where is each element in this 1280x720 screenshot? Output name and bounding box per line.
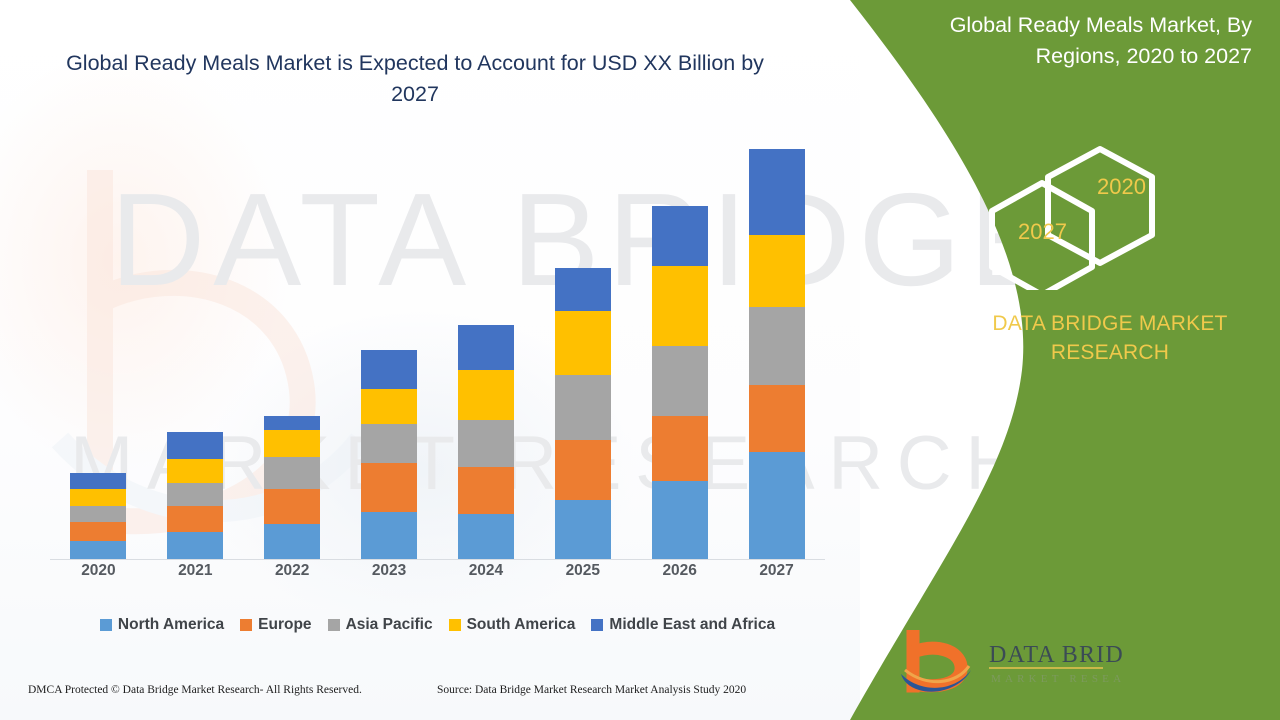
bar-segment — [361, 463, 417, 512]
bar-segment — [264, 524, 320, 559]
legend-swatch-icon — [240, 619, 252, 631]
bar-segment — [167, 483, 223, 506]
chart-column — [244, 150, 341, 559]
x-axis-tick: 2023 — [341, 562, 438, 580]
x-axis-line — [50, 559, 825, 560]
stacked-bar — [361, 350, 417, 559]
x-axis-labels: 20202021202220232024202520262027 — [50, 562, 825, 580]
bar-segment — [458, 420, 514, 467]
stacked-bar — [458, 325, 514, 559]
hexagon-outline-icon — [980, 145, 1190, 290]
bar-segment — [458, 514, 514, 559]
bar-segment — [70, 541, 126, 559]
bar-segment — [264, 489, 320, 524]
bar-segment — [749, 235, 805, 307]
bar-segment — [264, 430, 320, 457]
x-axis-tick: 2021 — [147, 562, 244, 580]
bar-segment — [652, 346, 708, 416]
bar-segment — [555, 500, 611, 559]
bar-segment — [555, 311, 611, 375]
chart-column — [534, 150, 631, 559]
chart-column — [50, 150, 147, 559]
legend-swatch-icon — [591, 619, 603, 631]
legend-item[interactable]: Middle East and Africa — [591, 616, 775, 634]
svg-text:MARKET RESEARCH: MARKET RESEARCH — [991, 673, 1123, 685]
brand-line-1: DATA BRIDGE MARKET — [965, 310, 1255, 339]
bar-segment — [652, 481, 708, 559]
data-bridge-logo: DATA BRIDGE MARKET RESEARCH — [893, 630, 1123, 698]
bar-segment — [555, 268, 611, 311]
bar-segment — [361, 424, 417, 463]
bar-segment — [749, 307, 805, 385]
chart-plot-area — [50, 150, 825, 559]
page-title: Global Ready Meals Market is Expected to… — [40, 48, 790, 110]
footer-copyright: DMCA Protected © Data Bridge Market Rese… — [28, 684, 362, 696]
bar-segment — [167, 459, 223, 484]
legend-swatch-icon — [449, 619, 461, 631]
panel-title: Global Ready Meals Market, By Regions, 2… — [880, 10, 1252, 72]
bar-segment — [70, 506, 126, 522]
bar-segment — [70, 522, 126, 540]
legend-swatch-icon — [100, 619, 112, 631]
legend-label: Europe — [258, 616, 311, 634]
legend-item[interactable]: North America — [100, 616, 224, 634]
x-axis-tick: 2020 — [50, 562, 147, 580]
bar-segment — [70, 473, 126, 489]
legend-swatch-icon — [328, 619, 340, 631]
stacked-bar — [749, 149, 805, 559]
chart-column — [147, 150, 244, 559]
x-axis-tick: 2026 — [631, 562, 728, 580]
hex-badges — [980, 145, 1190, 290]
stacked-bar — [70, 473, 126, 559]
footer-source: Source: Data Bridge Market Research Mark… — [437, 684, 746, 696]
stacked-bar — [652, 206, 708, 559]
bar-segment — [749, 149, 805, 235]
legend-item[interactable]: Asia Pacific — [328, 616, 433, 634]
stacked-bar — [167, 432, 223, 559]
bar-segment — [167, 432, 223, 459]
bar-segment — [652, 266, 708, 346]
bar-segment — [264, 416, 320, 430]
brand-line-2: RESEARCH — [965, 339, 1255, 368]
bar-segment — [167, 506, 223, 533]
bar-segment — [361, 350, 417, 389]
bar-segment — [458, 325, 514, 370]
infographic-slide: DATA BRIDGE MARKET RESEARCH Global Ready… — [0, 0, 1280, 720]
x-axis-tick: 2025 — [534, 562, 631, 580]
legend-label: Middle East and Africa — [609, 616, 775, 634]
bar-segment — [749, 385, 805, 453]
stacked-bar — [264, 416, 320, 559]
chart-legend: North AmericaEuropeAsia PacificSouth Ame… — [50, 616, 825, 634]
chart-column — [438, 150, 535, 559]
x-axis-tick: 2024 — [438, 562, 535, 580]
stacked-bar — [555, 268, 611, 559]
x-axis-tick: 2022 — [244, 562, 341, 580]
legend-item[interactable]: South America — [449, 616, 576, 634]
bar-segment — [70, 489, 126, 505]
stacked-bar-chart — [50, 150, 825, 560]
bar-segment — [458, 370, 514, 419]
legend-item[interactable]: Europe — [240, 616, 311, 634]
legend-label: Asia Pacific — [346, 616, 433, 634]
bar-segment — [652, 416, 708, 482]
hex-badge-2020-label: 2020 — [1097, 174, 1146, 200]
bar-segment — [652, 206, 708, 265]
bar-segment — [167, 532, 223, 559]
chart-column — [341, 150, 438, 559]
bar-segment — [555, 440, 611, 499]
svg-text:DATA BRIDGE: DATA BRIDGE — [989, 642, 1123, 668]
legend-label: South America — [467, 616, 576, 634]
bar-segment — [555, 375, 611, 441]
hex-badge-2027-label: 2027 — [1018, 219, 1067, 245]
data-bridge-logo-icon: DATA BRIDGE MARKET RESEARCH — [893, 630, 1123, 698]
chart-column — [631, 150, 728, 559]
bar-segment — [361, 389, 417, 424]
legend-label: North America — [118, 616, 224, 634]
bar-segment — [749, 452, 805, 559]
bar-segment — [458, 467, 514, 514]
brand-name: DATA BRIDGE MARKET RESEARCH — [965, 310, 1255, 368]
bar-segment — [264, 457, 320, 490]
bar-segment — [361, 512, 417, 559]
